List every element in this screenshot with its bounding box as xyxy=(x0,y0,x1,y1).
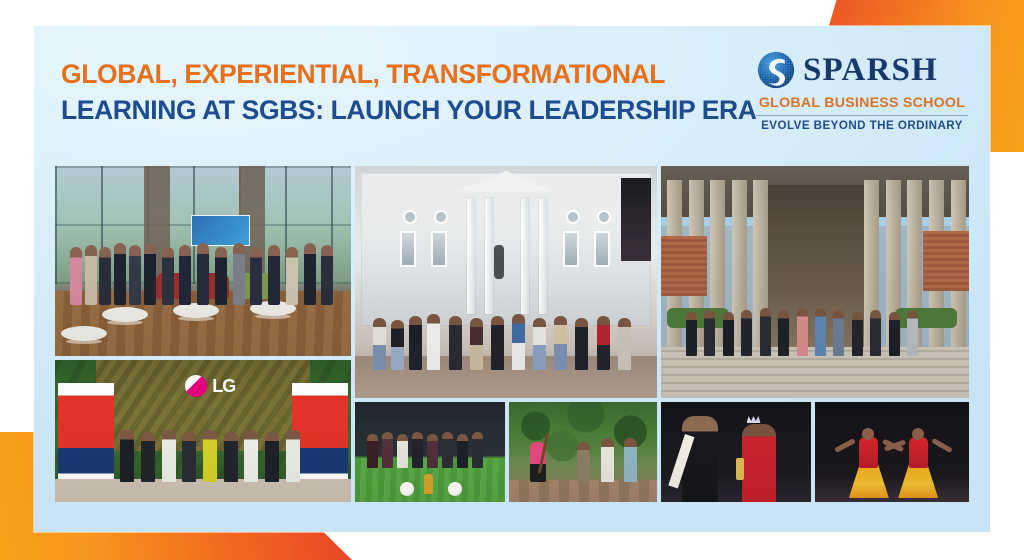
lg-logo-icon: LG xyxy=(185,374,243,398)
photo-campus-colonnade xyxy=(661,166,969,398)
photo-colonial-museum xyxy=(355,166,657,398)
page-title: GLOBAL, EXPERIENTIAL, TRANSFORMATIONAL L… xyxy=(61,57,757,128)
brand-lockup: SPARSH GLOBAL BUSINESS SCHOOL EVOLVE BEY… xyxy=(756,48,968,132)
photo-classical-dancers xyxy=(815,402,969,502)
headline-line-2: LEARNING AT SGBS: LAUNCH YOUR LEADERSHIP… xyxy=(61,93,757,127)
photo-mr-fresher-stage xyxy=(661,402,811,502)
photo-collage: LG xyxy=(55,166,969,502)
photo-atrium-networking xyxy=(55,166,351,356)
poster-canvas: GLOBAL, EXPERIENTIAL, TRANSFORMATIONAL L… xyxy=(0,0,1024,560)
photo-football-team xyxy=(355,402,505,502)
brand-name: SPARSH xyxy=(803,54,938,87)
photo-lg-office-visit: LG xyxy=(55,360,351,502)
photo-archery-outdoors xyxy=(509,402,657,502)
headline-line-1: GLOBAL, EXPERIENTIAL, TRANSFORMATIONAL xyxy=(61,57,757,91)
poster-card: GLOBAL, EXPERIENTIAL, TRANSFORMATIONAL L… xyxy=(34,26,990,532)
brand-divider xyxy=(756,115,968,116)
poster-header: GLOBAL, EXPERIENTIAL, TRANSFORMATIONAL L… xyxy=(34,26,990,162)
brand-tagline: EVOLVE BEYOND THE ORDINARY xyxy=(756,119,968,132)
brand-subtitle: GLOBAL BUSINESS SCHOOL xyxy=(756,95,968,111)
brand-top-row: SPARSH xyxy=(756,48,968,92)
sparsh-swirl-icon xyxy=(756,50,796,90)
